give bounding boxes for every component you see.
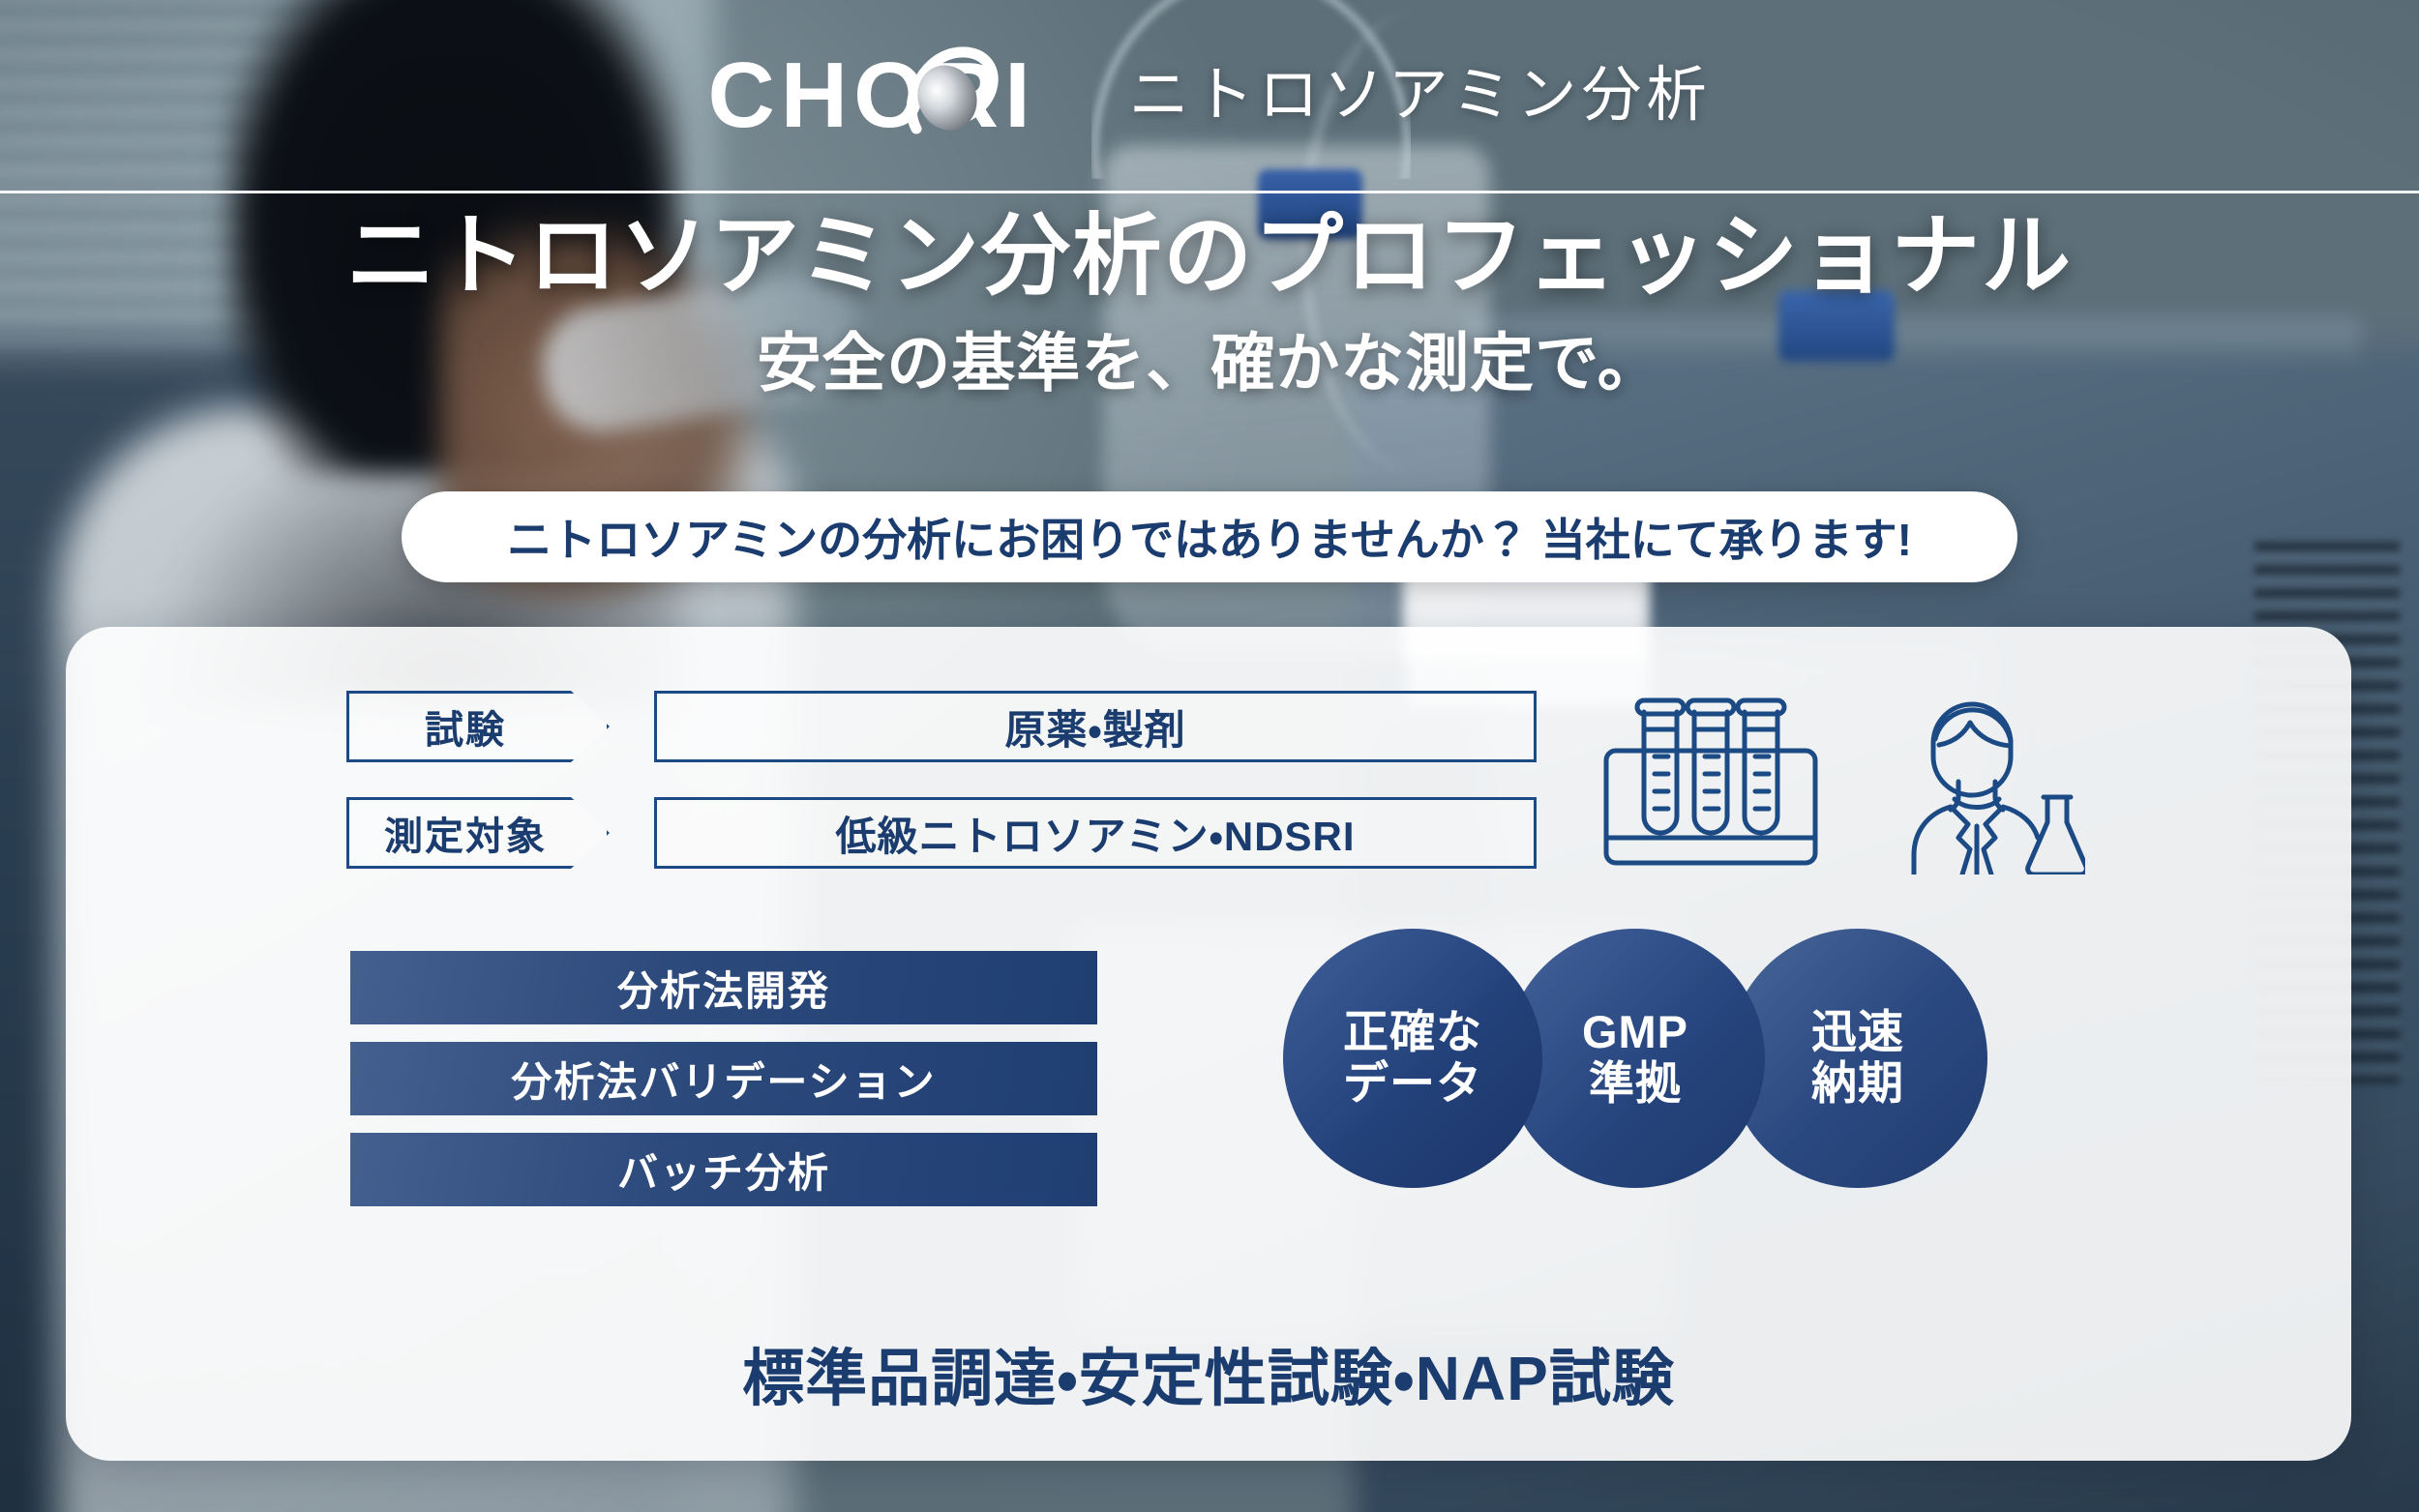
service-bar[interactable]: 分析法バリデーション — [350, 1042, 1097, 1115]
test-tube-rack-icon — [1595, 691, 1827, 879]
spec-row-label: 試験 — [425, 698, 531, 755]
cta-pill-banner[interactable]: ニトロソアミンの分析にお困りではありませんか？ 当社にて承ります! — [402, 491, 2017, 582]
feature-circle: GMP 準拠 — [1506, 929, 1765, 1188]
service-bar-label: バッチ分析 — [617, 1141, 830, 1200]
card-icons — [1595, 691, 2085, 879]
feature-circle: 迅速 納期 — [1728, 929, 1987, 1188]
chori-logo[interactable]: CHORI — [707, 42, 1035, 150]
service-bar[interactable]: バッチ分析 — [350, 1133, 1097, 1206]
cta-pill-text: ニトロソアミンの分析にお困りではありませんか？ 当社にて承ります! — [507, 505, 1912, 569]
spec-row-value: 低級ニトロソアミン・NDSRI — [835, 804, 1355, 863]
service-bar-label: 分析法バリデーション — [511, 1050, 936, 1109]
header: CHORI ニトロソアミン分析 — [0, 0, 2419, 192]
lab-scientist-flask-icon — [1877, 691, 2085, 879]
feature-circle-line: 正確な — [1343, 1007, 1482, 1058]
hero-title: ニトロソアミン分析のプロフェッショナル — [0, 203, 2419, 310]
spec-row-label-chevron: 測定対象 — [346, 797, 610, 869]
spec-rows: 試験 原薬・製剤 測定対象 低級ニトロソアミン・NDSRI — [346, 691, 1537, 904]
feature-circle-line: 迅速 — [1811, 1007, 1904, 1058]
spec-row-value-box: 低級ニトロソアミン・NDSRI — [654, 797, 1537, 869]
card-footline-text: 標準品調達・安定性試験・NAP試験 — [742, 1344, 1675, 1413]
feature-circle-line: GMP — [1582, 1007, 1688, 1058]
spec-row: 測定対象 低級ニトロソアミン・NDSRI — [346, 797, 1537, 869]
hero-subtitle: 安全の基準を、確かな測定で。 — [0, 323, 2419, 403]
feature-circle-line: 納期 — [1811, 1058, 1904, 1110]
service-bars: 分析法開発 分析法バリデーション バッチ分析 — [350, 951, 1097, 1224]
service-bar[interactable]: 分析法開発 — [350, 951, 1097, 1024]
spec-row-label-chevron: 試験 — [346, 691, 610, 762]
feature-circle: 正確な データ — [1283, 929, 1542, 1188]
spec-row: 試験 原薬・製剤 — [346, 691, 1537, 762]
content-card: 試験 原薬・製剤 測定対象 低級ニトロソアミン・NDSRI — [66, 627, 2351, 1461]
promo-banner: CHORI ニトロソアミン分析 ニトロソアミン分析のプロフェッショナル 安全の基… — [0, 0, 2419, 1512]
service-bar-label: 分析法開発 — [617, 959, 830, 1018]
card-footline: 標準品調達・安定性試験・NAP試験 — [66, 1329, 2351, 1418]
logo-wordmark: CHORI — [707, 49, 1035, 142]
hero: ニトロソアミン分析のプロフェッショナル 安全の基準を、確かな測定で。 — [0, 203, 2419, 403]
feature-circle-line: 準拠 — [1589, 1058, 1682, 1110]
header-divider — [0, 191, 2419, 193]
header-tagline: ニトロソアミン分析 — [1129, 66, 1712, 126]
feature-circle-line: データ — [1343, 1058, 1482, 1110]
spec-row-value: 原薬・製剤 — [1004, 697, 1185, 756]
spec-row-value-box: 原薬・製剤 — [654, 691, 1537, 762]
spec-row-label: 測定対象 — [384, 805, 572, 861]
